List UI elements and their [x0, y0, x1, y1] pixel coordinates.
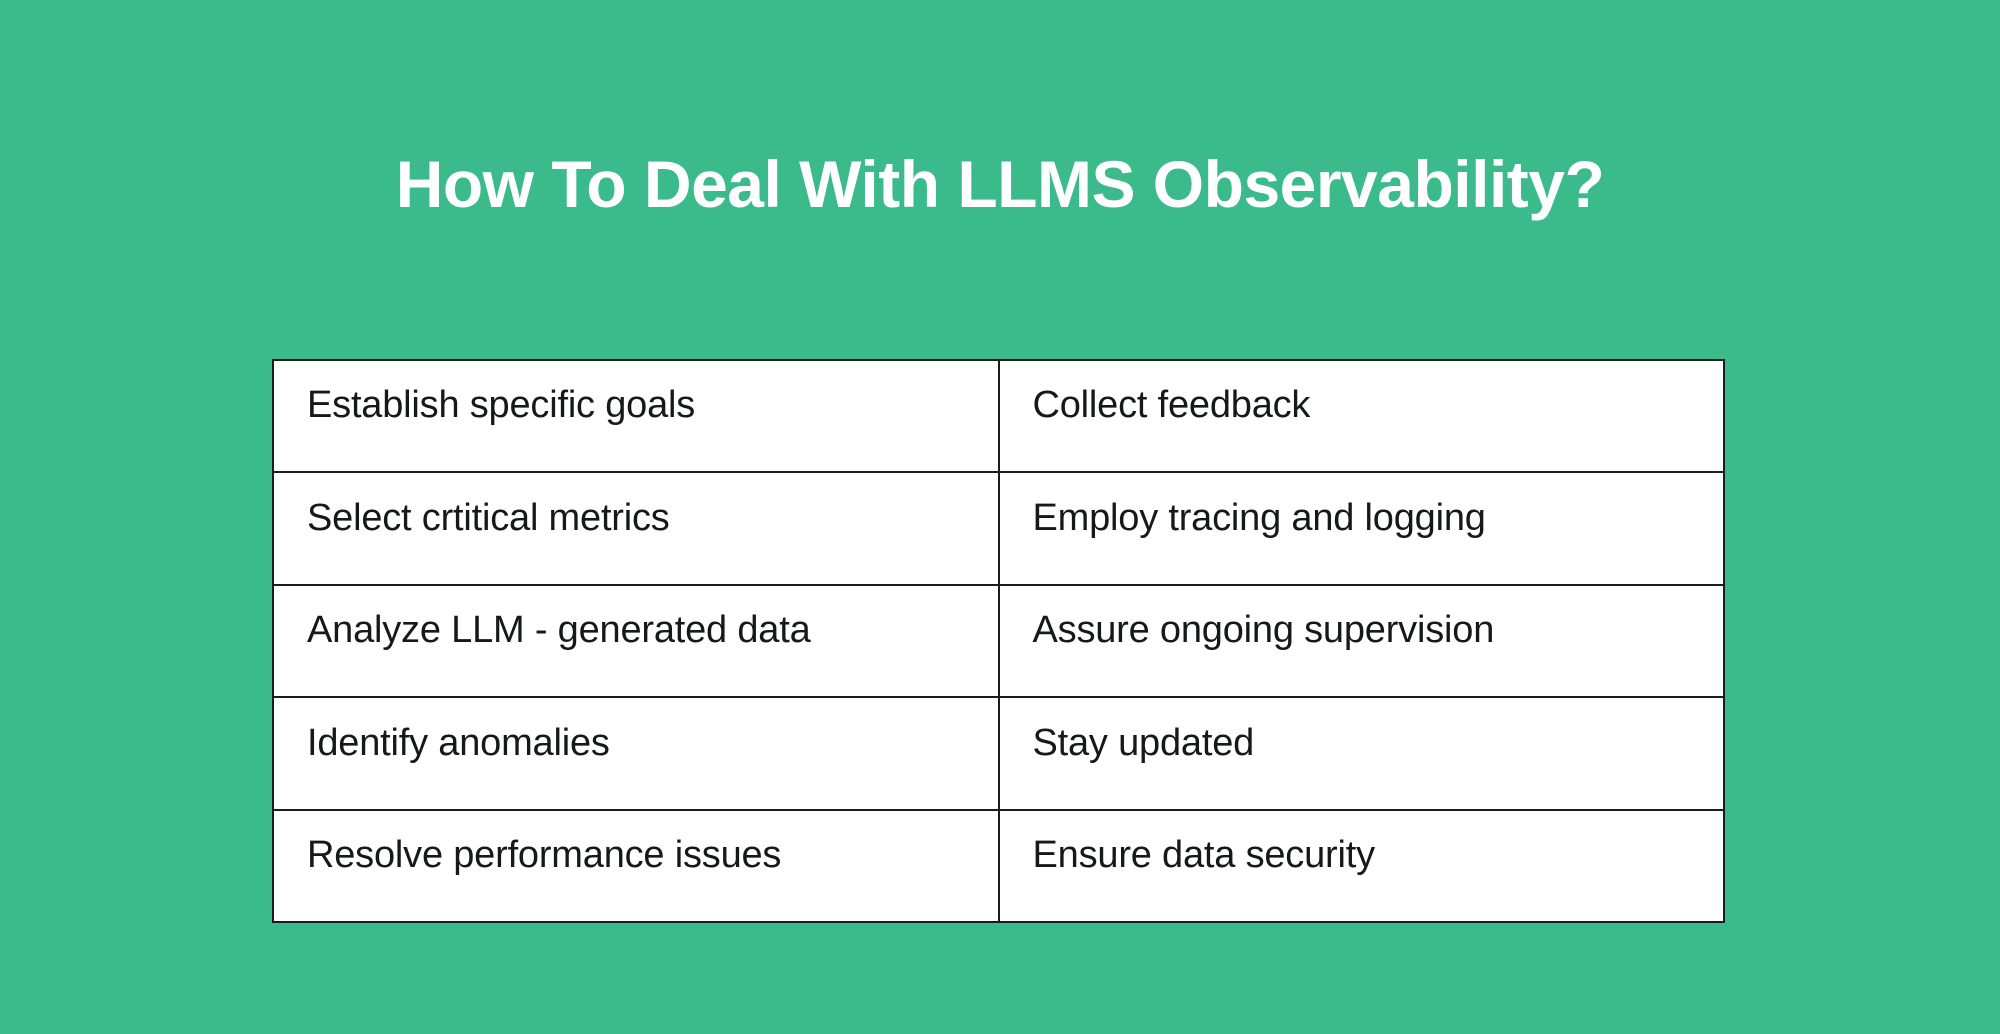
cell-label: Resolve performance issues: [307, 832, 998, 880]
table-cell-left: Analyze LLM - generated data: [273, 585, 999, 697]
cell-label: Identify anomalies: [307, 720, 998, 768]
table-row: Select crtitical metrics Employ tracing …: [273, 472, 1724, 584]
table-cell-left: Resolve performance issues: [273, 810, 999, 922]
table-cell-right: Ensure data security: [999, 810, 1725, 922]
table-row: Analyze LLM - generated data Assure ongo…: [273, 585, 1724, 697]
table-cell-left: Select crtitical metrics: [273, 472, 999, 584]
cell-label: Select crtitical metrics: [307, 495, 998, 543]
table-cell-left: Establish specific goals: [273, 360, 999, 472]
cell-label: Stay updated: [1033, 720, 1724, 768]
table-cell-right: Collect feedback: [999, 360, 1725, 472]
table-cell-left: Identify anomalies: [273, 697, 999, 809]
page-title: How To Deal With LLMS Observability?: [0, 148, 2000, 221]
cell-label: Analyze LLM - generated data: [307, 607, 998, 655]
table-cell-right: Employ tracing and logging: [999, 472, 1725, 584]
table-row: Identify anomalies Stay updated: [273, 697, 1724, 809]
cell-label: Employ tracing and logging: [1033, 495, 1724, 543]
cell-label: Assure ongoing supervision: [1033, 607, 1724, 655]
table-cell-right: Stay updated: [999, 697, 1725, 809]
slide-canvas: How To Deal With LLMS Observability? Est…: [0, 0, 2000, 1034]
table-row: Establish specific goals Collect feedbac…: [273, 360, 1724, 472]
observability-practices-table-wrapper: Establish specific goals Collect feedbac…: [272, 359, 1725, 911]
cell-label: Establish specific goals: [307, 382, 998, 430]
table-cell-right: Assure ongoing supervision: [999, 585, 1725, 697]
observability-practices-table: Establish specific goals Collect feedbac…: [272, 359, 1725, 923]
table-body: Establish specific goals Collect feedbac…: [273, 360, 1724, 922]
table-row: Resolve performance issues Ensure data s…: [273, 810, 1724, 922]
cell-label: Collect feedback: [1033, 382, 1724, 430]
cell-label: Ensure data security: [1033, 832, 1724, 880]
